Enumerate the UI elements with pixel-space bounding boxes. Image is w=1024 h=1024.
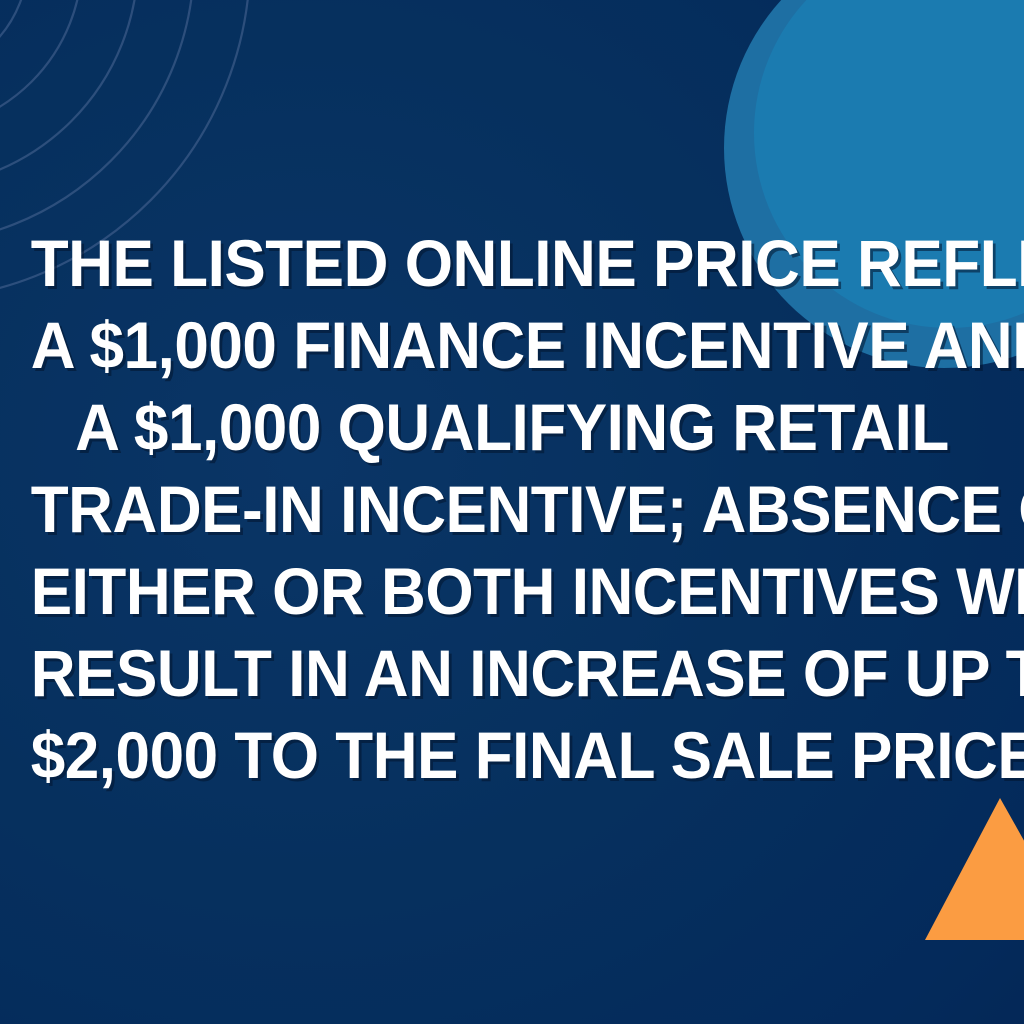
- orange-triangle-icon: [920, 798, 1024, 940]
- disclaimer-line: EITHER OR BOTH INCENTIVES WILL: [31, 550, 994, 632]
- disclaimer-graphic: THE LISTED ONLINE PRICE REFLECTS A $1,00…: [0, 0, 1024, 1024]
- disclaimer-line: THE LISTED ONLINE PRICE REFLECTS: [31, 222, 994, 304]
- disclaimer-line: A $1,000 FINANCE INCENTIVE AND: [31, 304, 994, 386]
- disclaimer-line: $2,000 TO THE FINAL SALE PRICE.: [31, 714, 994, 796]
- disclaimer-text: THE LISTED ONLINE PRICE REFLECTS A $1,00…: [31, 222, 994, 796]
- disclaimer-line: TRADE-IN INCENTIVE; ABSENCE OF: [31, 468, 994, 550]
- disclaimer-line: A $1,000 QUALIFYING RETAIL: [31, 386, 994, 468]
- disclaimer-line: RESULT IN AN INCREASE OF UP TO: [31, 632, 994, 714]
